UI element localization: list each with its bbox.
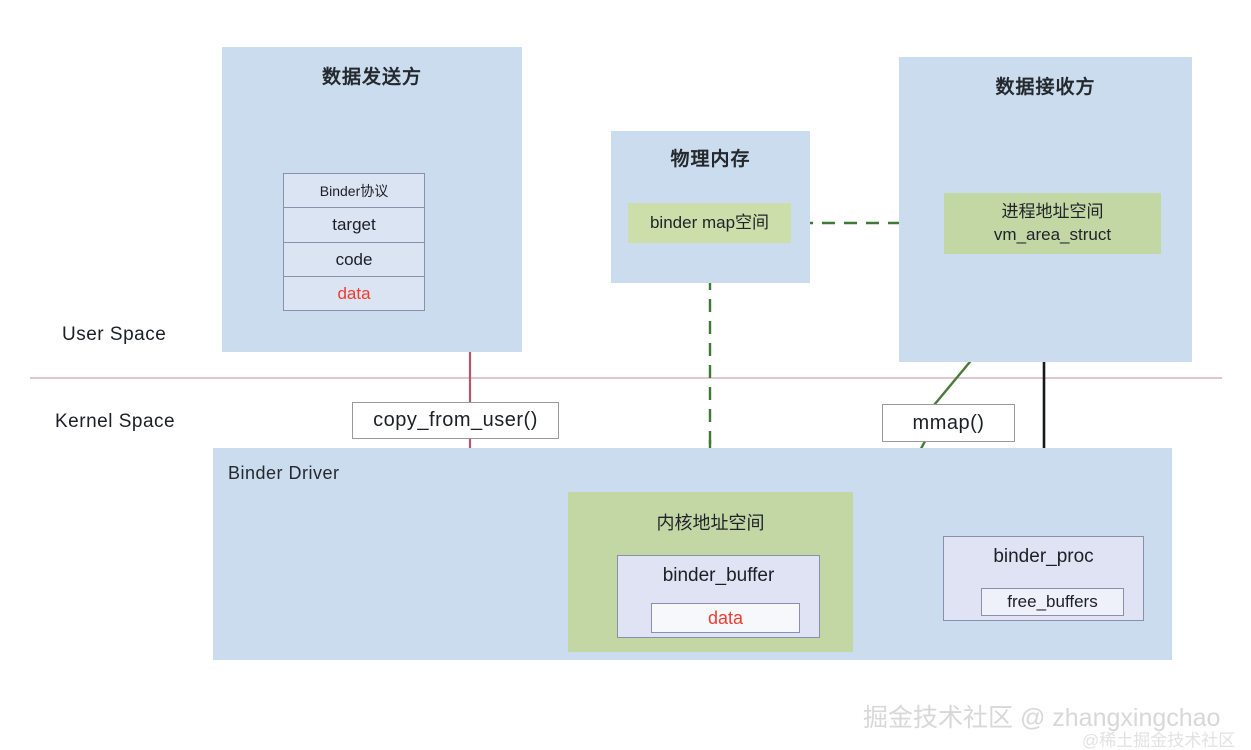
vm-area-struct-line2: vm_area_struct — [994, 224, 1111, 247]
binder-driver-title: Binder Driver — [228, 463, 340, 484]
kernel-space-label: Kernel Space — [55, 411, 175, 433]
stack-row: Binder协议 — [284, 174, 424, 208]
stack-row: code — [284, 243, 424, 277]
binder-map-region: binder map空间 — [628, 203, 791, 243]
physical-memory-title: 物理内存 — [611, 144, 810, 171]
sender-title: 数据发送方 — [222, 62, 522, 89]
vm-area-struct-region: 进程地址空间 vm_area_struct — [944, 193, 1161, 254]
stack-row: target — [284, 208, 424, 243]
binder-buffer-title: binder_buffer — [618, 565, 819, 587]
diagram-canvas: User Space Kernel Space 数据发送方 Binder协议 t… — [0, 0, 1251, 750]
mmap-callout: mmap() — [882, 404, 1015, 442]
binder-protocol-stack: Binder协议 target code data — [283, 173, 425, 311]
user-space-label: User Space — [62, 324, 166, 346]
watermark-sub: @稀土掘金技术社区 — [1082, 726, 1235, 750]
binder-proc-title: binder_proc — [944, 546, 1143, 568]
binder-buffer-data-cell: data — [651, 603, 800, 633]
copy-from-user-callout: copy_from_user() — [352, 402, 559, 439]
free-buffers-cell: free_buffers — [981, 588, 1124, 616]
vm-area-struct-line1: 进程地址空间 — [1002, 201, 1104, 224]
stack-row-data: data — [284, 277, 424, 310]
receiver-title: 数据接收方 — [899, 72, 1192, 99]
kernel-address-space-title: 内核地址空间 — [568, 509, 853, 535]
